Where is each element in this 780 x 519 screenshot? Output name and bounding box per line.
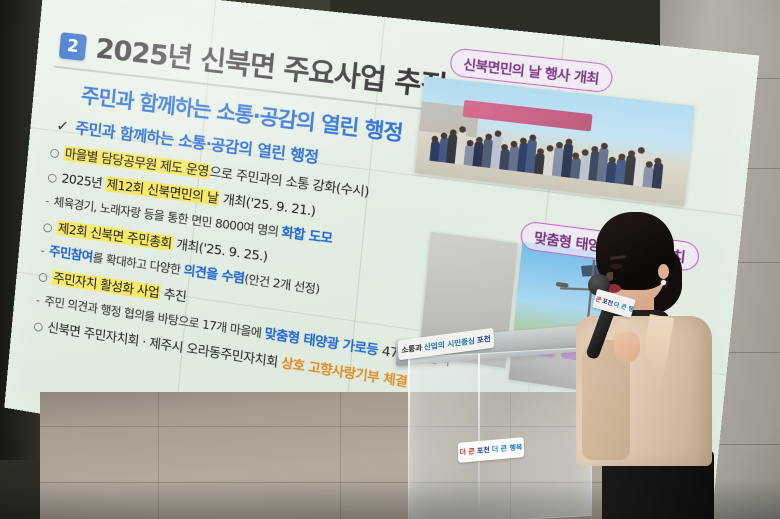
photo-scene: 2 2025년 신북면 주요사업 추진 주민과 함께하는 소통·공감의 열린 행… <box>0 0 780 519</box>
bullet-text-part: 개최('25. 9. 25.) <box>172 236 268 264</box>
podium-plate-part3: 포천 <box>477 333 491 346</box>
bullet-marker: - <box>35 294 40 307</box>
bullet-marker: ○ <box>33 319 43 333</box>
bullet-marker: ○ <box>47 170 57 184</box>
slide-number-badge: 2 <box>59 32 87 61</box>
podium-plate-part1: 소통과 <box>401 342 422 356</box>
bullet-marker: ○ <box>49 146 59 160</box>
crowd-figure-head <box>555 142 562 149</box>
slide-photo-group <box>415 76 694 206</box>
podium-plate-part2: 산업의 시민중심 <box>424 335 475 353</box>
bullet-text-part: 개최('25. 9. 21.) <box>219 190 317 218</box>
speaker-eye <box>610 264 623 269</box>
podium-badge-part1: 더 큰 <box>459 446 475 457</box>
bullet-text-part: 를 확대하고 다양한 <box>92 251 184 278</box>
bullet-text-part: 주민참여 <box>48 244 93 265</box>
bullet-marker: ○ <box>38 269 48 283</box>
speaker-ear <box>658 264 669 279</box>
bullet-text-part: 화합 도모 <box>281 224 333 246</box>
speaker-person: 더 큰 포천 더 큰 행복 <box>558 212 728 519</box>
bullet-text-part: (안건 2개 선정) <box>244 272 321 297</box>
podium-badge-part2: 포천 <box>477 445 490 456</box>
crowd-figure <box>651 162 663 189</box>
crowd-figure-head <box>485 133 492 140</box>
bullet-marker: ○ <box>42 220 52 234</box>
bullet-marker: - <box>40 244 45 257</box>
speaker-hand <box>614 332 640 362</box>
bullet-text-part: 제12회 신북면민의 날 <box>105 176 220 206</box>
bullet-text-part: 맞춤형 태양광 가로등 <box>264 326 379 358</box>
check-icon: ✓ <box>56 116 70 135</box>
speaker-earring <box>661 280 666 285</box>
bullet-marker: - <box>45 195 50 208</box>
bullet-text-part: 의견을 수렴 <box>183 262 245 286</box>
bullet-text-part: 추진 <box>160 285 187 304</box>
podium-badge-part3: 더 큰 행복 <box>492 442 523 455</box>
bullet-text-part: 2025년 <box>61 170 106 191</box>
